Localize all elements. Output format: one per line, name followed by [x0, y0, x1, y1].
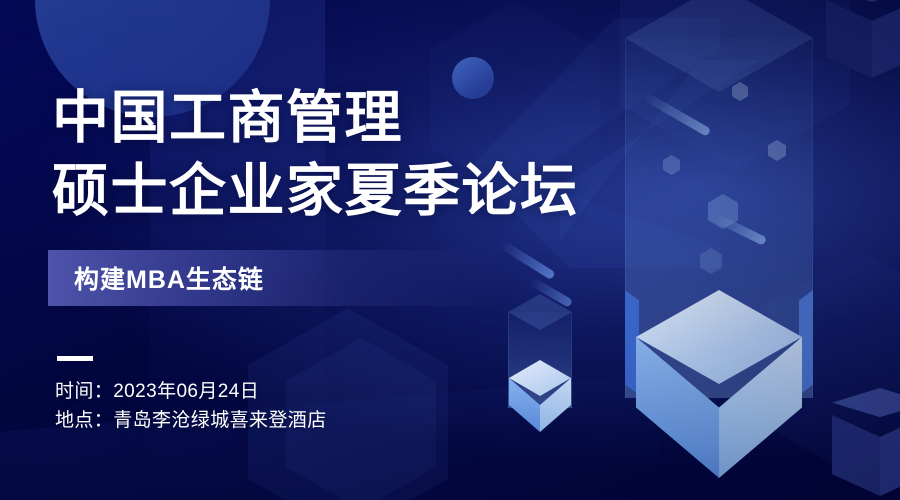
page-title: 中国工商管理 硕士企业家夏季论坛 [52, 82, 579, 228]
title-line-1: 中国工商管理 [52, 82, 579, 155]
event-poster: 中国工商管理 硕士企业家夏季论坛 构建MBA生态链 时间：2023年06月24日… [0, 0, 900, 500]
poster-content: 中国工商管理 硕士企业家夏季论坛 构建MBA生态链 时间：2023年06月24日… [0, 0, 900, 500]
event-details: 时间：2023年06月24日 地点：青岛李沧绿城喜来登酒店 [55, 377, 327, 435]
subtitle-text: 构建MBA生态链 [74, 260, 264, 296]
title-line-2: 硕士企业家夏季论坛 [52, 155, 579, 228]
divider-rule [57, 356, 93, 361]
subtitle-banner: 构建MBA生态链 [48, 250, 568, 306]
event-time: 时间：2023年06月24日 [55, 377, 327, 406]
event-location: 地点：青岛李沧绿城喜来登酒店 [55, 406, 327, 435]
